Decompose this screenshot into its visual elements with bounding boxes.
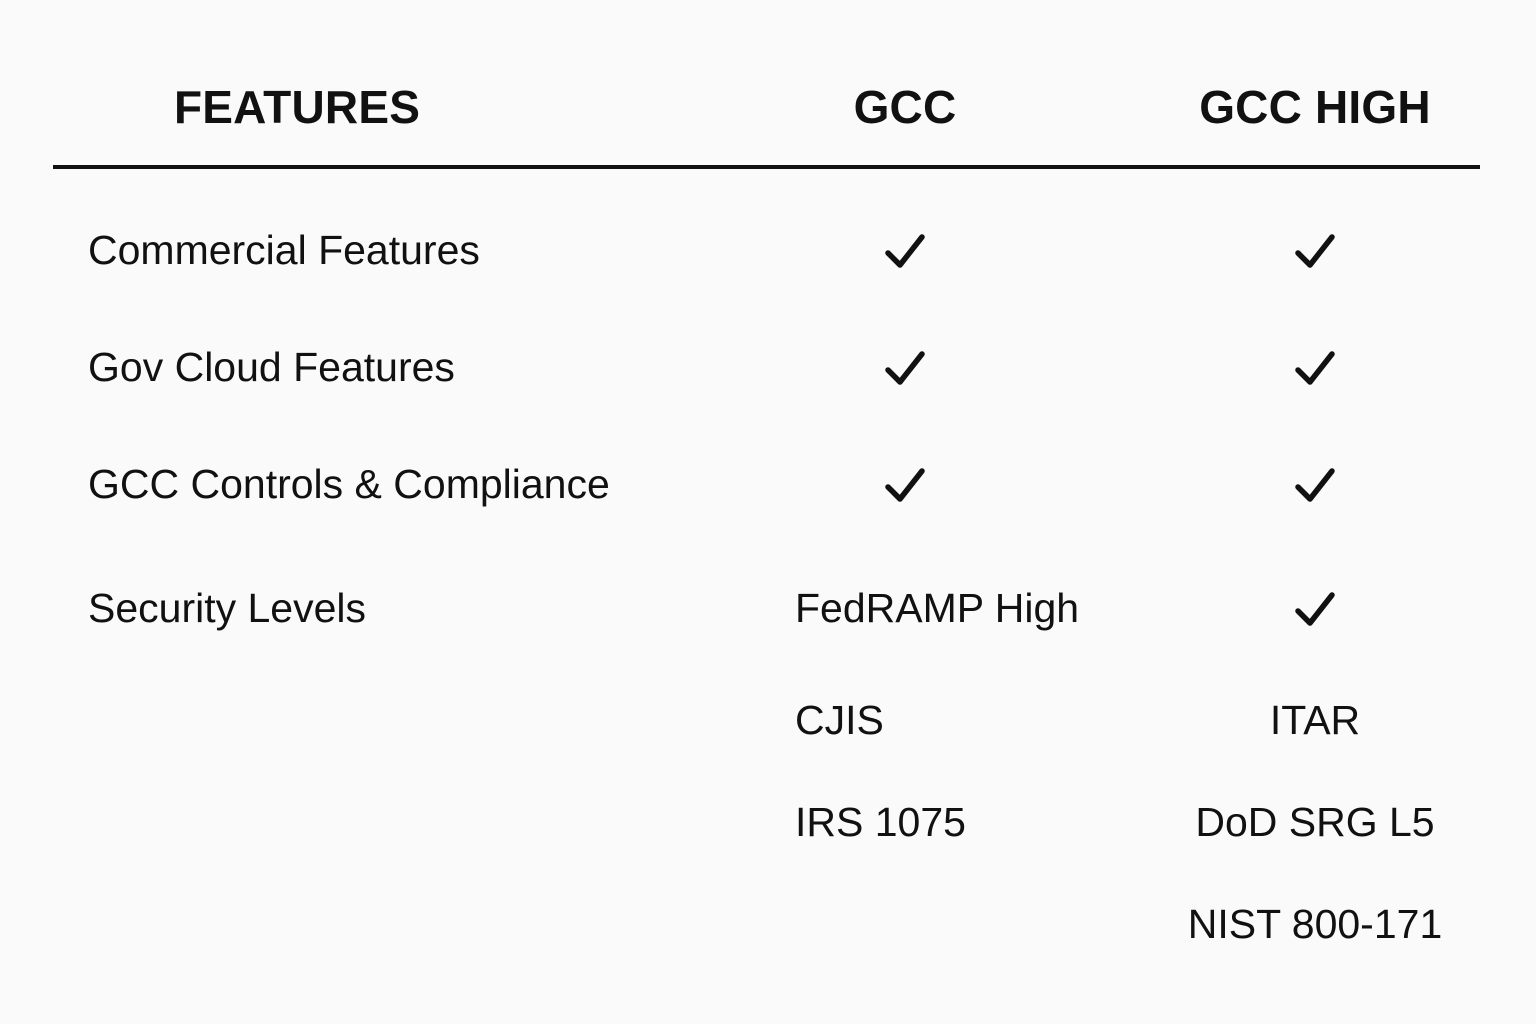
check-icon bbox=[1292, 586, 1338, 632]
table-row: GCC Controls & Compliance bbox=[0, 462, 1536, 522]
check-icon bbox=[1292, 462, 1338, 508]
comparison-table: FEATURES GCC GCC HIGH Commercial Feature… bbox=[0, 0, 1536, 1024]
cell-gcc bbox=[760, 228, 1050, 276]
table-row: Security Levels FedRAMP High bbox=[0, 586, 1536, 646]
check-icon bbox=[882, 462, 928, 508]
table-row: Commercial Features bbox=[0, 228, 1536, 288]
security-level-gcc-high: NIST 800-171 bbox=[1145, 902, 1485, 947]
cell-gcc-high bbox=[1165, 345, 1465, 393]
cell-gcc bbox=[760, 345, 1050, 393]
security-level-row: IRS 1075 DoD SRG L5 bbox=[0, 800, 1536, 856]
cell-gcc: FedRAMP High bbox=[760, 586, 1050, 631]
feature-label: GCC Controls & Compliance bbox=[88, 462, 610, 507]
table-row: Gov Cloud Features bbox=[0, 345, 1536, 405]
security-level-row: CJIS ITAR bbox=[0, 698, 1536, 754]
check-icon bbox=[1292, 345, 1338, 391]
cell-gcc-high bbox=[1165, 586, 1465, 634]
cell-gcc-high bbox=[1165, 228, 1465, 276]
security-level-gcc-high: DoD SRG L5 bbox=[1145, 800, 1485, 845]
check-icon bbox=[882, 228, 928, 274]
feature-label: Security Levels bbox=[88, 586, 366, 631]
security-level-gcc: IRS 1075 bbox=[760, 800, 1050, 845]
check-icon bbox=[1292, 228, 1338, 274]
security-level-gcc: CJIS bbox=[760, 698, 1050, 743]
security-level-gcc-high: ITAR bbox=[1145, 698, 1485, 743]
cell-gcc-high bbox=[1165, 462, 1465, 510]
security-level-row: NIST 800-171 bbox=[0, 902, 1536, 958]
feature-label: Gov Cloud Features bbox=[88, 345, 455, 390]
cell-gcc bbox=[760, 462, 1050, 510]
table-body: Commercial Features Gov Cloud Features bbox=[0, 0, 1536, 1024]
feature-label: Commercial Features bbox=[88, 228, 480, 273]
check-icon bbox=[882, 345, 928, 391]
